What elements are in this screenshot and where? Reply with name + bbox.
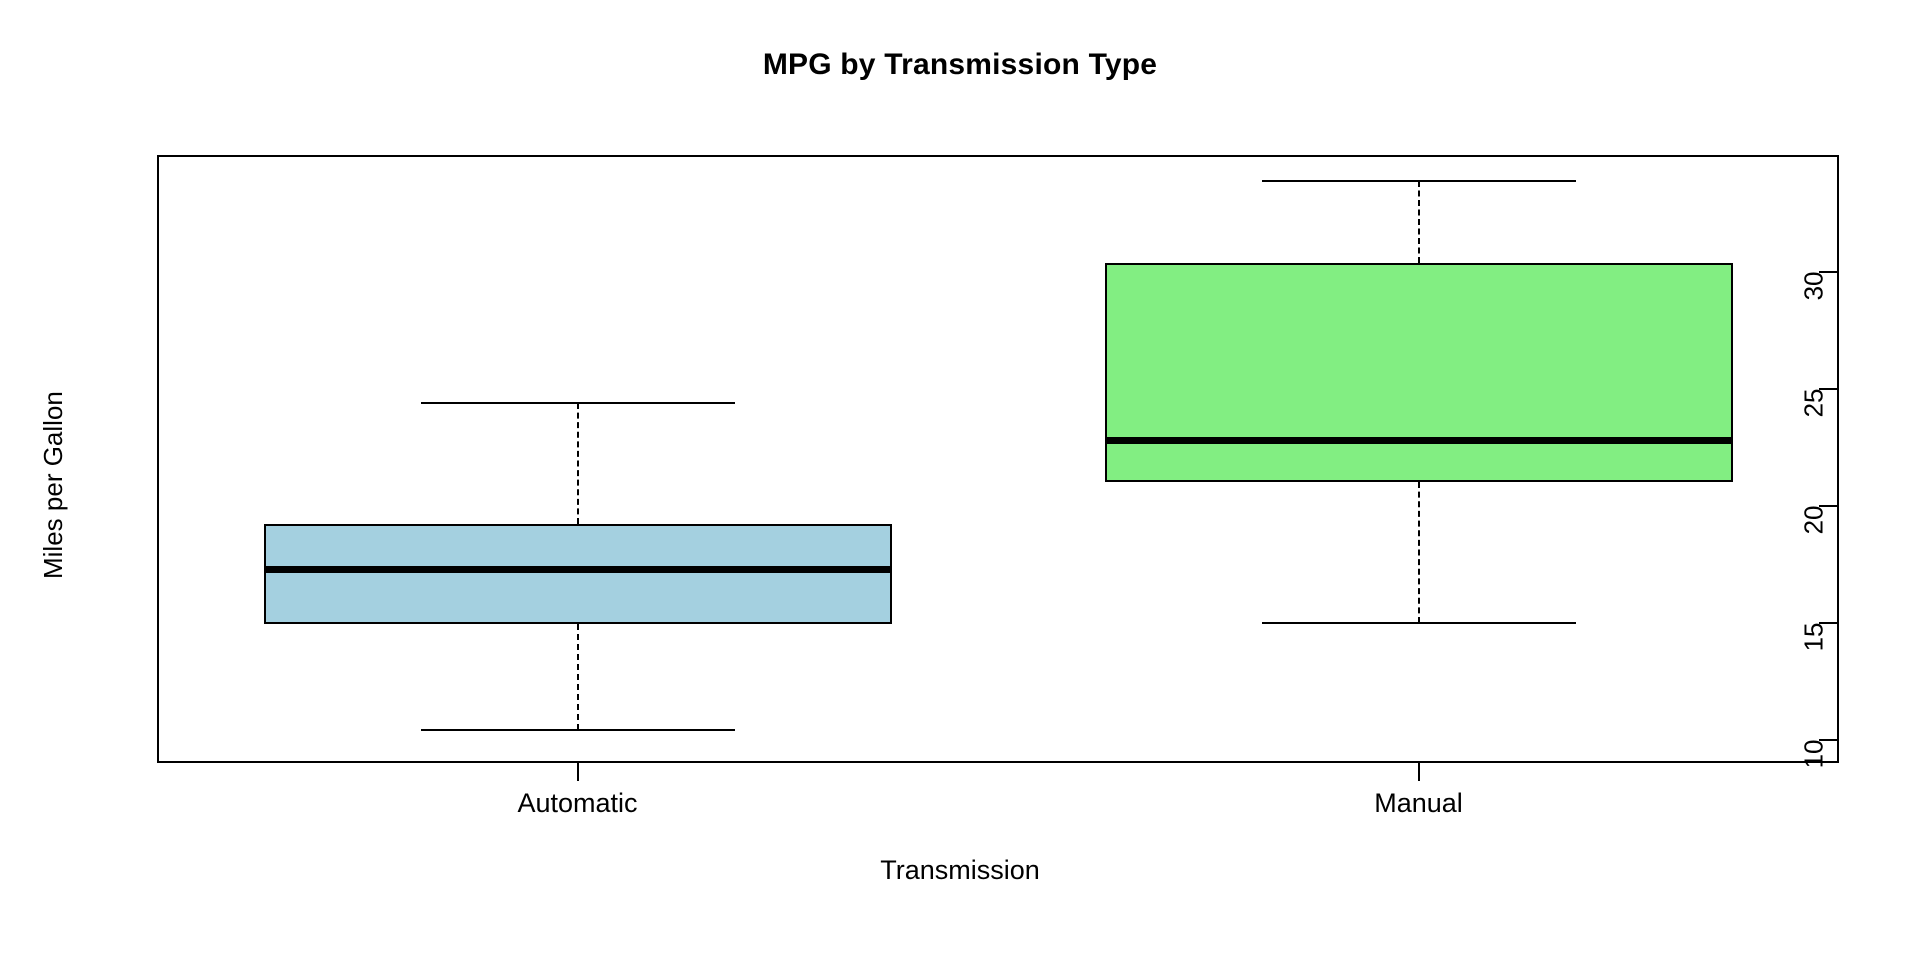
y-tick-label: 30: [1799, 271, 1830, 300]
x-axis-title: Transmission: [0, 855, 1920, 886]
boxplot-figure: MPG by Transmission Type Miles per Gallo…: [0, 0, 1920, 960]
whisker-lower: [1418, 482, 1420, 622]
whisker-cap-upper: [1262, 180, 1576, 182]
box-manual: [1105, 263, 1733, 483]
chart-title: MPG by Transmission Type: [0, 48, 1920, 82]
median-line-automatic: [264, 566, 892, 573]
y-axis-title: Miles per Gallon: [38, 391, 69, 579]
x-tick-label: Automatic: [517, 788, 637, 819]
y-tick-label: 25: [1799, 388, 1830, 417]
x-tick-label: Manual: [1374, 788, 1463, 819]
whisker-cap-upper: [421, 402, 735, 404]
whisker-upper: [577, 403, 579, 525]
x-tick-mark: [1418, 763, 1420, 781]
whisker-cap-lower: [1262, 622, 1576, 624]
median-line-manual: [1105, 437, 1733, 444]
whisker-lower: [577, 624, 579, 730]
y-tick-label: 10: [1799, 739, 1830, 768]
x-tick-mark: [577, 763, 579, 781]
y-tick-label: 20: [1799, 505, 1830, 534]
y-tick-label: 15: [1799, 622, 1830, 651]
whisker-cap-lower: [421, 729, 735, 731]
box-automatic: [264, 524, 892, 623]
y-axis: Miles per Gallon: [0, 0, 157, 960]
whisker-upper: [1418, 181, 1420, 263]
